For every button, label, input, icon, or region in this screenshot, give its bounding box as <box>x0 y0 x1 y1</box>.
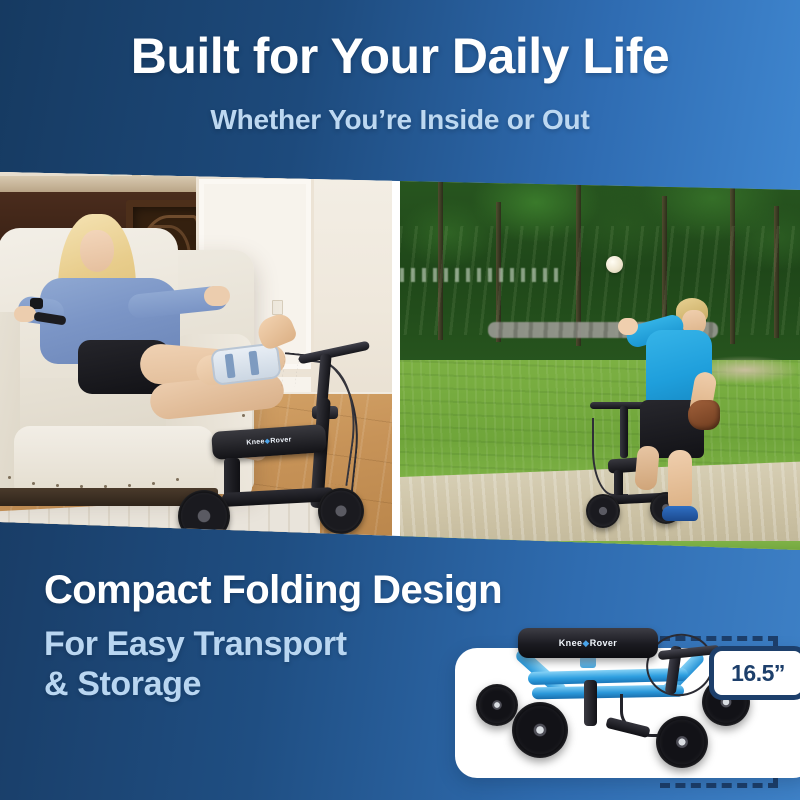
scooter-wheel <box>586 494 620 528</box>
scooter-wheel <box>318 488 364 534</box>
folded-knee-scooter-product: Knee◆Rover <box>470 618 800 788</box>
scooter-wheel <box>476 684 518 726</box>
knee-pad-brand-label: Knee◆Rover <box>528 638 648 649</box>
handlebar <box>298 341 370 365</box>
nailhead-trim <box>152 482 155 485</box>
photo-indoor-living-room: Knee◆Rover <box>0 150 392 570</box>
person-hand-left <box>14 306 36 322</box>
baseball <box>606 256 623 273</box>
measurement-badge-value: 16.5” <box>731 660 785 687</box>
person-hand-right <box>204 286 230 306</box>
bottom-title: Compact Folding Design <box>44 568 684 613</box>
bottom-subtitle: For Easy Transport & Storage <box>44 624 444 704</box>
scooter-wheel <box>656 716 708 768</box>
measurement-badge: 16.5” <box>709 646 800 700</box>
baseball-glove <box>688 400 720 430</box>
person-shoe <box>662 506 698 521</box>
knee-scooter-indoor: Knee◆Rover <box>168 340 392 540</box>
nailhead-trim <box>32 482 35 485</box>
marketing-infographic: Built for Your Daily Life Whether You’re… <box>0 0 800 800</box>
photo-outdoor-baseball <box>400 150 800 570</box>
person-leg-front <box>668 450 692 512</box>
person-leg-back <box>634 445 660 491</box>
page-subtitle: Whether You’re Inside or Out <box>0 104 800 136</box>
page-title: Built for Your Daily Life <box>0 30 800 83</box>
room-scene: Knee◆Rover <box>0 150 392 570</box>
outdoor-scene <box>400 150 800 570</box>
wall-outlet <box>272 300 283 315</box>
header-banner: Built for Your Daily Life Whether You’re… <box>0 0 800 200</box>
mantel-shelf <box>0 176 200 192</box>
bottom-subtitle-line-1: For Easy Transport <box>44 624 444 664</box>
nailhead-trim <box>8 476 11 479</box>
nailhead-trim <box>56 484 59 487</box>
nailhead-trim <box>80 485 83 488</box>
nailhead-trim <box>104 485 107 488</box>
scooter-wheel <box>512 702 568 758</box>
person-hand-throwing <box>618 318 638 335</box>
steering-stem <box>620 406 628 458</box>
bottom-subtitle-line-2: & Storage <box>44 664 444 704</box>
knee-pad-post <box>584 680 597 726</box>
person-face <box>80 230 114 272</box>
photo-band: Knee◆Rover <box>0 150 800 570</box>
nailhead-trim <box>128 484 131 487</box>
distant-background <box>400 268 560 282</box>
